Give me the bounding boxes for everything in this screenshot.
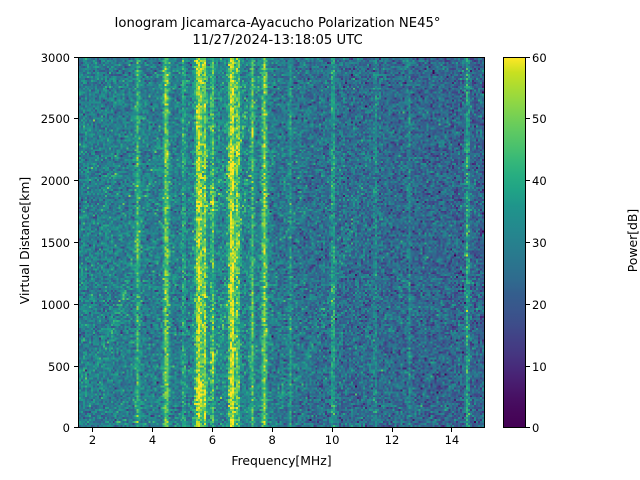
y-tick-mark	[74, 304, 78, 305]
y-tick-mark	[74, 366, 78, 367]
x-tick-label: 14	[432, 433, 472, 447]
x-tick-mark	[92, 428, 93, 432]
colorbar-tick-label: 20	[532, 298, 547, 312]
colorbar-tick-label: 10	[532, 360, 547, 374]
x-tick-mark	[212, 428, 213, 432]
y-tick-mark	[74, 180, 78, 181]
y-axis-label: Virtual Distance[km]	[17, 55, 32, 426]
y-tick-mark	[74, 242, 78, 243]
y-tick-mark	[74, 118, 78, 119]
y-tick-mark	[74, 427, 78, 428]
x-tick-mark	[272, 428, 273, 432]
colorbar-label: Power[dB]	[625, 55, 640, 426]
ionogram-figure: Ionogram Jicamarca-Ayacucho Polarization…	[0, 0, 640, 480]
x-tick-label: 6	[192, 433, 232, 447]
x-tick-label: 12	[372, 433, 412, 447]
x-tick-label: 2	[73, 433, 113, 447]
heatmap-plot-area	[78, 57, 485, 428]
x-tick-label: 10	[312, 433, 352, 447]
colorbar-tick-mark	[526, 180, 530, 181]
x-axis-label: Frequency[MHz]	[78, 453, 485, 468]
colorbar-tick-mark	[526, 304, 530, 305]
x-tick-mark	[392, 428, 393, 432]
x-tick-mark	[451, 428, 452, 432]
colorbar-tick-mark	[526, 118, 530, 119]
colorbar-tick-label: 0	[532, 421, 539, 435]
colorbar-tick-label: 50	[532, 112, 547, 126]
colorbar-tick-mark	[526, 366, 530, 367]
x-tick-mark	[332, 428, 333, 432]
colorbar-tick-mark	[526, 57, 530, 58]
power-colorbar	[503, 57, 526, 428]
colorbar-tick-mark	[526, 242, 530, 243]
colorbar-tick-label: 40	[532, 174, 547, 188]
y-tick-mark	[74, 57, 78, 58]
x-tick-label: 4	[133, 433, 173, 447]
ionogram-heatmap	[79, 58, 484, 427]
x-tick-mark	[152, 428, 153, 432]
figure-title: Ionogram Jicamarca-Ayacucho Polarization…	[0, 16, 555, 49]
colorbar-tick-label: 30	[532, 236, 547, 250]
x-tick-label: 8	[252, 433, 292, 447]
colorbar-tick-mark	[526, 427, 530, 428]
colorbar-tick-label: 60	[532, 51, 547, 65]
